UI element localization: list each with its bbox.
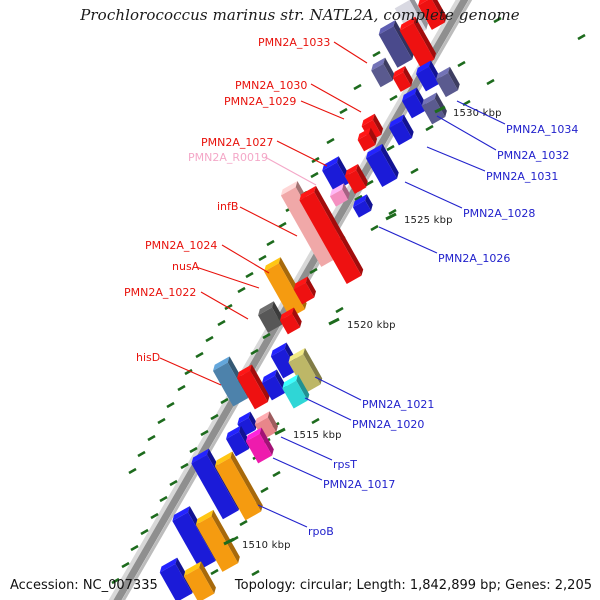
gene-label-text[interactable]: PMN2A_1027 — [201, 136, 273, 149]
label-leader-line — [196, 267, 259, 288]
gene-label-text[interactable]: rpsT — [333, 458, 357, 471]
gene-label[interactable]: PMN2A_1021 — [315, 377, 434, 411]
tick-mark — [252, 571, 259, 575]
tick-mark — [158, 419, 165, 423]
tick-mark — [327, 139, 334, 143]
label-leader-line — [265, 157, 316, 185]
gene-label-text[interactable]: PMN2A_1022 — [124, 286, 196, 299]
gene-label[interactable]: PMN2A_1033 — [258, 36, 367, 63]
gene-label-text[interactable]: PMN2A_1032 — [497, 149, 569, 162]
tick-mark — [196, 353, 203, 357]
tick-mark — [340, 109, 347, 113]
tick-mark — [148, 436, 155, 440]
gene-label[interactable]: PMN2A_1029 — [224, 95, 344, 119]
tick-mark — [390, 96, 397, 100]
tick-mark — [261, 488, 268, 492]
gene-label-text[interactable]: nusA — [172, 260, 200, 273]
tick-mark — [373, 52, 380, 56]
tick-mark — [387, 146, 394, 150]
label-leader-line — [201, 292, 248, 319]
tick-mark — [411, 169, 418, 173]
tick-mark — [371, 226, 378, 230]
gene-label-text[interactable]: infB — [217, 200, 238, 213]
label-leader-line — [305, 398, 351, 420]
label-leader-line — [258, 505, 307, 527]
scale-tick-label: 1525 kbp — [404, 215, 453, 226]
gene-label-text[interactable]: PMN2A_1031 — [486, 170, 558, 183]
tick-mark — [160, 497, 167, 501]
tick-mark — [312, 419, 319, 423]
gene-label-text[interactable]: hisD — [136, 351, 160, 364]
tick-mark — [279, 223, 286, 227]
label-leader-line — [315, 377, 361, 400]
tick-mark — [167, 403, 174, 407]
tick-mark — [211, 570, 218, 574]
gene-label[interactable]: PMN2A_1024 — [145, 239, 269, 273]
gene-label[interactable]: rpoB — [258, 505, 334, 538]
label-leader-line — [379, 227, 437, 253]
label-leader-line — [301, 101, 344, 119]
scale-tick: 1525 kbp — [386, 214, 453, 226]
scale-tick-label: 1530 kbp — [453, 108, 502, 119]
gene-label-text[interactable]: PMN2A_1033 — [258, 36, 330, 49]
gene-label[interactable]: PMN2A_1022 — [124, 286, 248, 319]
gene-label-text[interactable]: PMN2A_R0019 — [188, 151, 268, 164]
gene-label[interactable]: infB — [217, 200, 297, 236]
gene-1026-blue[interactable] — [351, 194, 375, 217]
gene-label-text[interactable]: PMN2A_1030 — [235, 79, 307, 92]
gene-label[interactable]: rpsT — [281, 437, 357, 471]
tick-mark — [259, 256, 266, 260]
gene-label-text[interactable]: PMN2A_1017 — [323, 478, 395, 491]
tick-mark — [267, 241, 274, 245]
tick-mark — [218, 321, 225, 325]
gene-label-text[interactable]: PMN2A_1024 — [145, 239, 217, 252]
tick-mark — [311, 173, 318, 177]
gene-label-text[interactable]: PMN2A_1026 — [438, 252, 510, 265]
tick-mark — [141, 530, 148, 534]
scale-tick-label: 1520 kbp — [347, 320, 396, 331]
right-gene-labels[interactable]: PMN2A_1034PMN2A_1032PMN2A_1031PMN2A_1028… — [258, 101, 578, 538]
tick-mark — [129, 469, 136, 473]
label-leader-line — [437, 116, 496, 150]
tick-mark — [138, 452, 145, 456]
tick-mark — [487, 80, 494, 84]
gene-label-text[interactable]: PMN2A_1029 — [224, 95, 296, 108]
scale-tick-label: 1510 kbp — [242, 540, 291, 551]
tick-mark — [336, 308, 343, 312]
left-gene-labels[interactable]: PMN2A_1033PMN2A_1030PMN2A_1029PMN2A_1027… — [124, 36, 367, 385]
tick-mark — [458, 62, 465, 66]
label-leader-line — [334, 42, 367, 63]
tick-mark — [206, 337, 213, 341]
tick-mark — [240, 521, 247, 525]
tick-mark — [273, 472, 280, 476]
scale-tick-label: 1515 kbp — [293, 430, 342, 441]
label-leader-line — [405, 182, 462, 208]
label-leader-line — [240, 207, 297, 236]
tick-mark — [112, 579, 119, 583]
gene-label[interactable]: nusA — [172, 260, 259, 288]
label-leader-line — [427, 147, 485, 171]
tick-mark — [122, 563, 129, 567]
tick-mark — [578, 35, 585, 39]
tick-mark — [246, 273, 253, 277]
gene-label-text[interactable]: rpoB — [308, 525, 334, 538]
tick-mark — [131, 546, 138, 550]
gene-label-text[interactable]: PMN2A_1028 — [463, 207, 535, 220]
gene-label-text[interactable]: PMN2A_1034 — [506, 123, 578, 136]
gene-label[interactable]: hisD — [136, 351, 221, 385]
gene-features-layer[interactable] — [158, 0, 462, 600]
label-leader-line — [160, 358, 221, 385]
gene-1034-slate[interactable] — [434, 67, 462, 97]
tick-mark — [426, 126, 433, 130]
genome-viewer[interactable]: 1530 kbp1525 kbp1520 kbp1515 kbp1510 kbp… — [0, 0, 600, 600]
gene-slate-sm1[interactable] — [369, 58, 397, 88]
tick-mark — [354, 85, 361, 89]
gene-label-text[interactable]: PMN2A_1020 — [352, 418, 424, 431]
scale-tick: 1520 kbp — [329, 319, 396, 331]
label-leader-line — [277, 141, 327, 166]
gene-label[interactable]: PMN2A_1026 — [379, 227, 510, 265]
genome-map-canvas[interactable]: 1530 kbp1525 kbp1520 kbp1515 kbp1510 kbp… — [0, 0, 600, 600]
gene-label-text[interactable]: PMN2A_1021 — [362, 398, 434, 411]
label-leader-line — [273, 458, 322, 480]
tick-mark — [178, 386, 185, 390]
tick-mark — [238, 288, 245, 292]
gene-label[interactable]: PMN2A_R0019 — [188, 151, 316, 185]
tick-mark — [494, 18, 501, 22]
